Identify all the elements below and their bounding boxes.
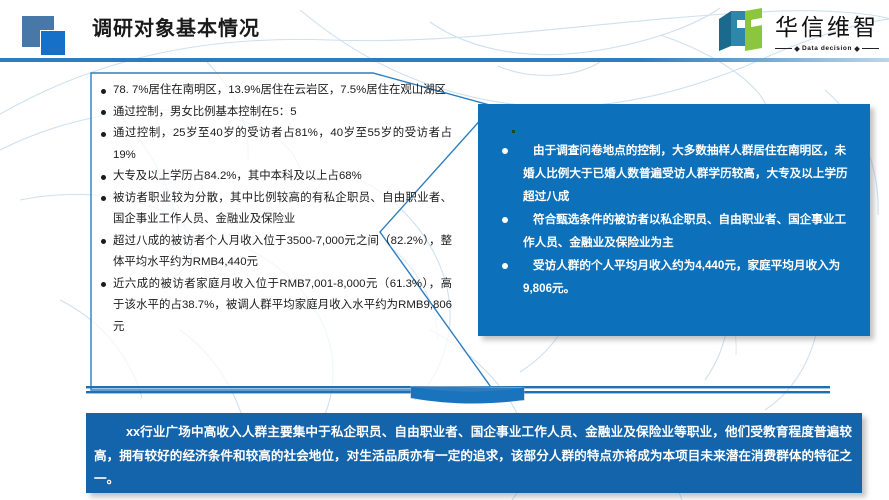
bottom-conclusion-box: xx行业广场中高收入人群主要集中于私企职员、自由职业者、国企事业工作人员、金融业… bbox=[86, 413, 862, 493]
decorative-divider-ribbon bbox=[0, 386, 889, 410]
bottom-conclusion-text: xx行业广场中高收入人群主要集中于私企职员、自由职业者、国企事业工作人员、金融业… bbox=[94, 421, 852, 492]
right-summary-box: 由于调查问卷地点的控制，大多数抽样人群居住在南明区，未婚人比例大于已婚人数普遍受… bbox=[478, 104, 870, 336]
list-item: 受访人群的个人平均月收入约为4,440元，家庭平均月收入为9,806元。 bbox=[496, 254, 852, 300]
list-item: 被访者职业较为分散，其中比例较高的有私企职员、自由职业者、国企事业工作人员、金融… bbox=[100, 188, 452, 231]
list-item: 大专及以上学历占84.2%，其中本科及以上占68% bbox=[100, 166, 452, 188]
logo-subtitle-row: Data decision bbox=[775, 45, 879, 52]
stray-bullet-dot bbox=[512, 130, 515, 133]
logo-rule-left bbox=[775, 48, 792, 49]
logo-subtitle: Data decision bbox=[802, 45, 852, 52]
left-callout-box: 78. 7%居住在南明区，13.9%居住在云岩区，7.5%居住在观山湖区 通过控… bbox=[90, 72, 494, 392]
left-bullet-list: 78. 7%居住在南明区，13.9%居住在云岩区，7.5%居住在观山湖区 通过控… bbox=[100, 80, 452, 338]
slide-canvas: 调研对象基本情况 华信维智 Data decision bbox=[0, 0, 889, 500]
logo-rule-right bbox=[862, 48, 879, 49]
header-decor-square-front bbox=[40, 30, 66, 56]
page-title: 调研对象基本情况 bbox=[92, 12, 260, 41]
list-item: 通过控制，25岁至40岁的受访者占81%，40岁至55岁的受访者占19% bbox=[100, 123, 452, 166]
logo-company-name: 华信维智 bbox=[775, 8, 879, 42]
list-item: 近六成的被访者家庭月收入位于RMB7,001-8,000元（61.3%），高于该… bbox=[100, 274, 452, 339]
right-bullet-list: 由于调查问卷地点的控制，大多数抽样人群居住在南明区，未婚人比例大于已婚人数普遍受… bbox=[496, 139, 852, 300]
list-item: 符合甄选条件的被访者以私企职员、自由职业者、国企事业工作人员、金融业及保险业为主 bbox=[496, 208, 852, 254]
list-item: 由于调查问卷地点的控制，大多数抽样人群居住在南明区，未婚人比例大于已婚人数普遍受… bbox=[496, 139, 852, 208]
brand-logo: 华信维智 Data decision bbox=[715, 6, 879, 54]
list-item: 超过八成的被访者个人月收入位于3500-7,000元之间（82.2%），整体平均… bbox=[100, 231, 452, 274]
list-item: 通过控制，男女比例基本控制在5：5 bbox=[100, 102, 452, 124]
logo-cube-icon bbox=[715, 6, 771, 54]
logo-diamond-right-icon bbox=[854, 46, 860, 52]
logo-diamond-left-icon bbox=[794, 46, 800, 52]
list-item: 78. 7%居住在南明区，13.9%居住在云岩区，7.5%居住在观山湖区 bbox=[100, 80, 452, 102]
header-divider-rule bbox=[0, 58, 889, 62]
logo-text-block: 华信维智 Data decision bbox=[775, 6, 879, 52]
